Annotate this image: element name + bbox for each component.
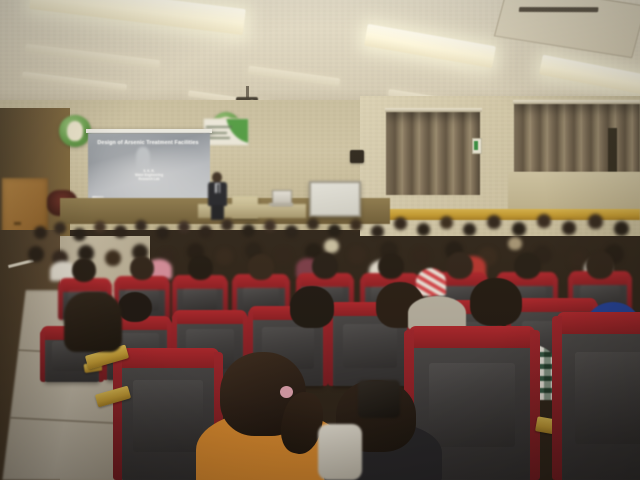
lecture-hall-photo: Design of Arsenic Treatment Facilities S… bbox=[0, 0, 640, 480]
laptop-base bbox=[269, 203, 293, 206]
audience-head bbox=[178, 221, 190, 233]
slide-title: Design of Arsenic Treatment Facilities bbox=[92, 140, 204, 146]
audience-head bbox=[264, 220, 276, 232]
audience-head bbox=[350, 219, 362, 231]
audience-head bbox=[135, 220, 147, 232]
attendee-hair-tie bbox=[280, 386, 293, 398]
audience-head bbox=[378, 253, 404, 279]
hvac-blade bbox=[519, 7, 599, 12]
audience-head bbox=[72, 258, 96, 282]
seat-side-left bbox=[113, 352, 122, 480]
foreground-attendee-sleeve bbox=[318, 424, 362, 480]
audience-head bbox=[242, 224, 255, 237]
audience-head bbox=[156, 226, 169, 239]
banner-swoosh-graphic bbox=[226, 118, 249, 146]
audience-head bbox=[73, 228, 86, 241]
audience-head bbox=[514, 252, 541, 279]
audience-head bbox=[290, 286, 334, 328]
audience-head bbox=[371, 225, 384, 238]
seat-side-left bbox=[552, 316, 562, 480]
audience-head bbox=[307, 218, 319, 230]
handbag bbox=[358, 380, 400, 418]
audience-head bbox=[463, 223, 476, 236]
audience-head bbox=[188, 255, 213, 280]
audience-head bbox=[130, 256, 154, 280]
right-wall-lower-panel bbox=[508, 172, 640, 214]
projection-screen[interactable]: Design of Arsenic Treatment Facilities S… bbox=[88, 133, 210, 204]
foreground-attendee-far-left bbox=[64, 292, 122, 352]
audience-head bbox=[312, 253, 338, 279]
curtain-fabric bbox=[514, 104, 640, 172]
presenter-necktie bbox=[217, 184, 219, 194]
slide-subtitle-line-3: Research Lab bbox=[88, 178, 210, 182]
audience-head bbox=[94, 221, 106, 233]
curtain-opening-gap bbox=[608, 128, 617, 172]
seat-back-panel bbox=[133, 380, 202, 452]
sign-face-graphic bbox=[67, 121, 82, 141]
wall-mounted-speaker bbox=[350, 150, 364, 163]
curtain-fabric bbox=[386, 112, 480, 195]
auditorium-seat-foreground[interactable] bbox=[560, 316, 640, 480]
audience-head bbox=[470, 278, 522, 326]
audience-head bbox=[562, 221, 576, 235]
seat-red-trim bbox=[409, 326, 535, 348]
window-curtain-left bbox=[386, 112, 480, 195]
audience-clothing-accent bbox=[408, 296, 466, 330]
seat-side-left bbox=[40, 330, 45, 382]
audience-head bbox=[221, 219, 233, 231]
audience-head bbox=[614, 221, 629, 236]
audience-head bbox=[588, 214, 603, 229]
audience-head bbox=[34, 226, 47, 239]
audience-head bbox=[394, 217, 407, 230]
audience-head bbox=[328, 224, 341, 237]
audience-head bbox=[248, 254, 274, 280]
green-indicator-light bbox=[474, 141, 478, 150]
seat-side-right bbox=[530, 330, 540, 480]
audience-head bbox=[417, 223, 430, 236]
audience-head bbox=[114, 225, 127, 238]
seat-red-trim bbox=[557, 312, 640, 334]
audience-head bbox=[54, 222, 66, 234]
banner-text-line bbox=[206, 126, 232, 128]
audience-head bbox=[199, 225, 212, 238]
wall-mounted-green-indicator bbox=[472, 138, 482, 154]
audience-head bbox=[586, 251, 614, 279]
audience-head bbox=[446, 252, 473, 279]
door-handle-icon bbox=[14, 222, 21, 225]
audience-head bbox=[440, 216, 453, 229]
seat-red-trim bbox=[173, 310, 247, 324]
audience-head bbox=[285, 225, 298, 238]
audience-head bbox=[118, 292, 152, 322]
audience-head bbox=[512, 222, 526, 236]
audience-head bbox=[487, 215, 501, 229]
seat-back-panel bbox=[575, 352, 640, 444]
window-curtain-right bbox=[514, 104, 640, 172]
audience-head bbox=[537, 214, 551, 228]
